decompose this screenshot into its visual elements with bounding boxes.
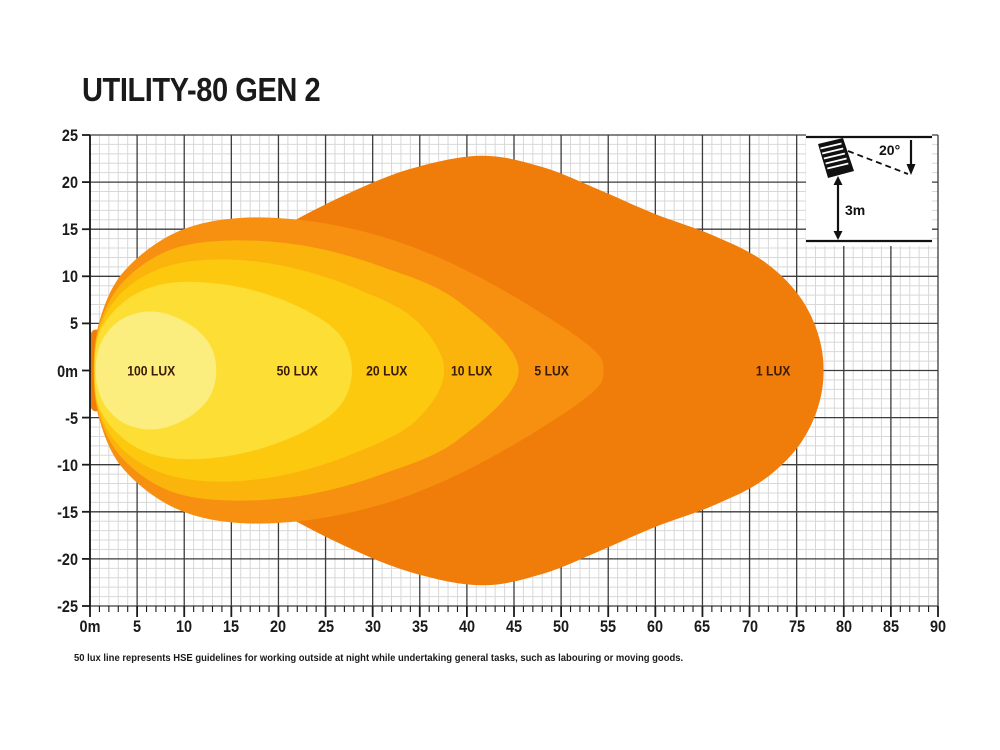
x-axis-tick-label: 15 bbox=[206, 618, 257, 635]
mounting-inset-diagram: 20° 3m bbox=[806, 128, 932, 246]
x-axis-tick-label: 45 bbox=[489, 618, 540, 635]
y-axis-tick-label: -5 bbox=[36, 410, 79, 427]
x-axis-tick-label: 50 bbox=[536, 618, 587, 635]
x-axis-tick-label: 90 bbox=[913, 618, 964, 635]
x-axis-tick-label: 85 bbox=[865, 618, 916, 635]
inset-height-label: 3m bbox=[845, 202, 865, 218]
lux-label-5-lux: 5 LUX bbox=[534, 363, 569, 379]
y-axis-tick-label: 15 bbox=[36, 221, 79, 238]
lux-label-50-lux: 50 LUX bbox=[277, 363, 318, 379]
chart-caption: 50 lux line represents HSE guidelines fo… bbox=[74, 652, 683, 664]
beam-pattern-diagram: UTILITY-80 GEN 2 100 LUX50 LUX20 LUX10 L… bbox=[0, 0, 1000, 750]
inset-angle-label: 20° bbox=[879, 142, 900, 158]
y-axis-tick-label: 5 bbox=[36, 315, 79, 332]
beam-chart: 100 LUX50 LUX20 LUX10 LUX5 LUX1 LUX bbox=[0, 0, 1000, 750]
lux-label-1-lux: 1 LUX bbox=[756, 363, 791, 379]
y-axis-tick-label: -20 bbox=[36, 551, 79, 568]
lux-label-100-lux: 100 LUX bbox=[127, 363, 175, 379]
x-axis-tick-label: 60 bbox=[630, 618, 681, 635]
x-axis-tick-label: 70 bbox=[724, 618, 775, 635]
y-axis-tick-label: -25 bbox=[36, 598, 79, 615]
x-axis-tick-label: 65 bbox=[677, 618, 728, 635]
x-axis-tick-label: 80 bbox=[818, 618, 869, 635]
x-axis-tick-label: 30 bbox=[347, 618, 398, 635]
x-axis-tick-label: 55 bbox=[583, 618, 634, 635]
x-axis-tick-label: 75 bbox=[771, 618, 822, 635]
x-axis-tick-label: 35 bbox=[394, 618, 445, 635]
x-axis-tick-label: 25 bbox=[300, 618, 351, 635]
y-axis-tick-label: 0m bbox=[36, 363, 79, 380]
x-axis-tick-label: 40 bbox=[441, 618, 492, 635]
lux-label-20-lux: 20 LUX bbox=[366, 363, 407, 379]
x-axis-tick-label: 10 bbox=[159, 618, 210, 635]
y-axis-tick-label: -15 bbox=[36, 504, 79, 521]
y-axis-tick-label: -10 bbox=[36, 457, 79, 474]
y-axis-tick-label: 20 bbox=[36, 174, 79, 191]
y-axis-tick-label: 10 bbox=[36, 268, 79, 285]
x-axis-tick-label: 0m bbox=[65, 618, 116, 635]
x-axis-tick-label: 20 bbox=[253, 618, 304, 635]
x-axis-tick-label: 5 bbox=[112, 618, 163, 635]
lux-label-10-lux: 10 LUX bbox=[451, 363, 492, 379]
y-axis-tick-label: 25 bbox=[36, 127, 79, 144]
